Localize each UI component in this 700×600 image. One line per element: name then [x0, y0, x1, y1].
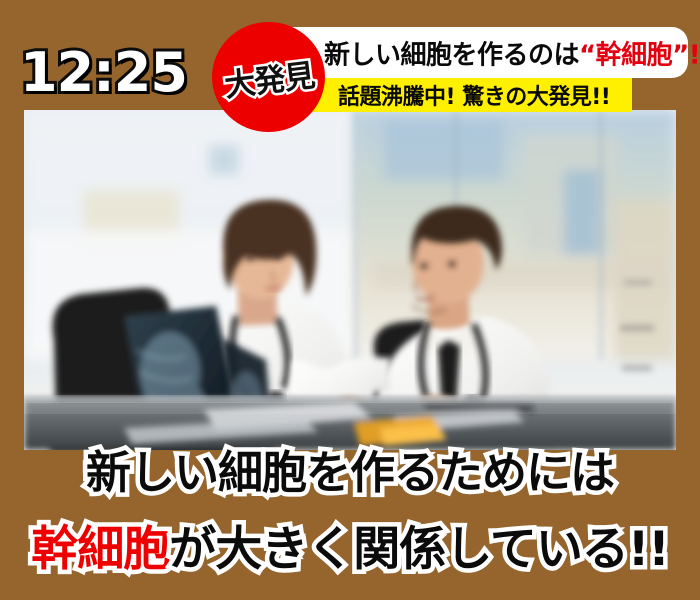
photo-doctors-reviewing-xray — [24, 110, 676, 450]
caption-line-1: 新しい細胞を作るためには — [0, 436, 700, 501]
caption-line-2: 幹細胞が大きく関係している!! — [0, 510, 700, 579]
headline-banner-yellow-text: 話題沸騰中! 驚きの大発見!! — [338, 79, 610, 111]
discovery-badge-label: 大発見 — [221, 49, 316, 105]
headline-text-accent: “幹細胞”!? — [579, 40, 700, 70]
headline-text-plain: 新しい細胞を作るのは — [324, 40, 579, 70]
broadcast-graphic-frame: 12:25 — [0, 0, 700, 600]
photo-illustration — [24, 110, 676, 450]
clock-time: 12:25 — [20, 46, 187, 100]
headline-banner-white-text: 新しい細胞を作るのは“幹細胞”!? — [324, 34, 700, 71]
discovery-badge: 大発見 — [212, 22, 325, 132]
caption-line-2-accent: 幹細胞 — [31, 522, 169, 577]
caption-line-2-plain: が大きく関係している!! — [169, 522, 668, 577]
